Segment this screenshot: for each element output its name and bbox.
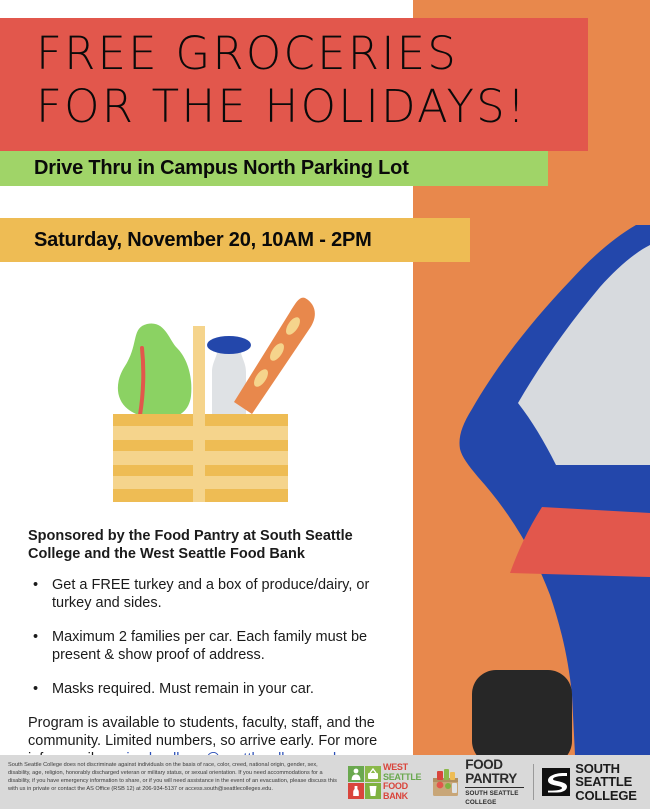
list-item: • Masks required. Must remain in your ca…	[28, 680, 390, 698]
list-item: • Maximum 2 families per car. Each famil…	[28, 628, 390, 664]
sponsor-text: Sponsored by the Food Pantry at South Se…	[28, 527, 390, 563]
car-illustration	[400, 225, 650, 755]
list-item: • Get a FREE turkey and a box of produce…	[28, 576, 390, 612]
food-pantry-logo: FOOD PANTRY SOUTH SEATTLE COLLEGE	[430, 764, 524, 800]
south-seattle-college-logo: SOUTH SEATTLE COLLEGE	[533, 764, 644, 800]
wsfb-cell-basket-icon	[365, 766, 381, 782]
event-datetime: Saturday, November 20, 10AM - 2PM	[34, 227, 372, 253]
west-seattle-food-bank-logo: WEST SEATTLE FOOD BANK	[348, 764, 421, 800]
ssc-line-2: COLLEGE	[575, 789, 644, 803]
food-pantry-subtitle: SOUTH SEATTLE COLLEGE	[465, 787, 524, 807]
flyer-page: FREE GROCERIES FOR THE HOLIDAYS! Drive T…	[0, 0, 650, 809]
food-pantry-wordmark: FOOD PANTRY SOUTH SEATTLE COLLEGE	[465, 758, 524, 807]
wsfb-cell-bottle-icon	[348, 783, 364, 799]
baguette-icon	[234, 298, 315, 414]
lettuce-icon	[118, 323, 192, 418]
food-pantry-name: FOOD PANTRY	[465, 758, 524, 786]
ssc-wordmark: SOUTH SEATTLE COLLEGE	[575, 762, 644, 803]
list-item-text: Maximum 2 families per car. Each family …	[52, 629, 367, 663]
subhead-text: Drive Thru in Campus North Parking Lot	[34, 155, 409, 182]
wsfb-line-4: BANK	[383, 792, 421, 802]
bullet-marker: •	[33, 628, 38, 646]
body-copy: Sponsored by the Food Pantry at South Se…	[28, 527, 390, 768]
bullet-marker: •	[33, 576, 38, 594]
wsfb-mark-icon	[348, 766, 381, 799]
details-list: • Get a FREE turkey and a box of produce…	[28, 576, 390, 698]
wsfb-cell-cup-icon	[365, 783, 381, 799]
nondiscrimination-disclaimer: South Seattle College does not discrimin…	[8, 761, 338, 793]
footer-logos: WEST SEATTLE FOOD BANK	[348, 761, 644, 803]
page-title: FREE GROCERIES FOR THE HOLIDAYS!	[36, 27, 596, 133]
ssc-s-mark-icon	[542, 768, 570, 796]
bullet-marker: •	[33, 680, 38, 698]
list-item-text: Masks required. Must remain in your car.	[52, 681, 314, 697]
grocery-bag-icon	[430, 767, 461, 797]
list-item-text: Get a FREE turkey and a box of produce/d…	[52, 577, 369, 611]
grocery-basket-illustration	[100, 290, 330, 520]
wsfb-cell-person-icon	[348, 766, 364, 782]
wsfb-wordmark: WEST SEATTLE FOOD BANK	[383, 763, 421, 801]
ssc-line-1: SOUTH SEATTLE	[575, 762, 644, 789]
